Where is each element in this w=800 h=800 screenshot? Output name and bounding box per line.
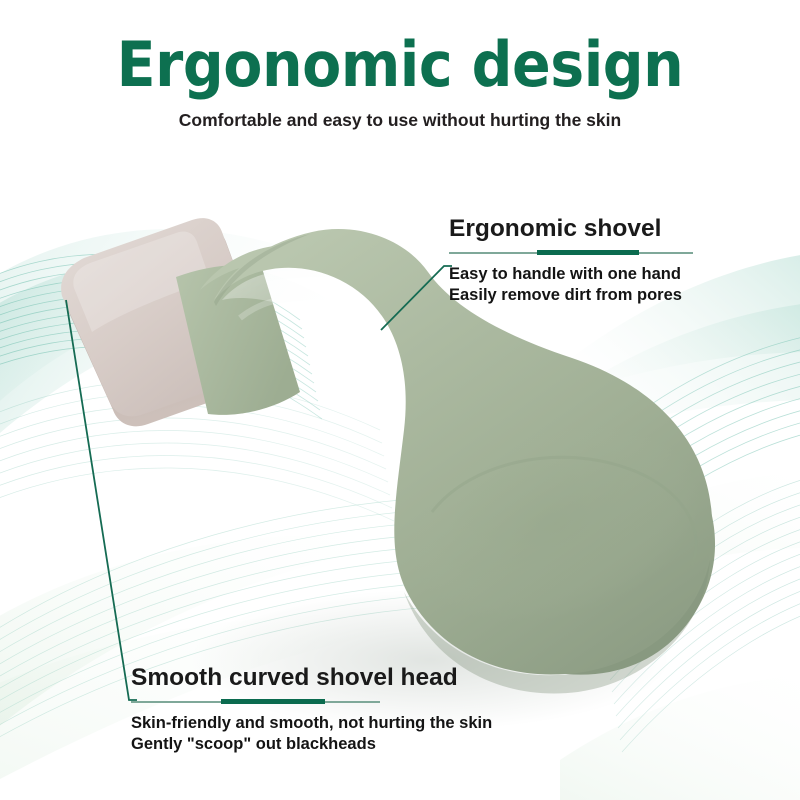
thumb-rest-dimple xyxy=(388,393,725,656)
callout-ergonomic-shovel: Ergonomic shovel Easy to handle with one… xyxy=(449,216,693,306)
divider-accent-segment xyxy=(537,250,639,255)
product-feature-graphic: Ergonomic design Comfortable and easy to… xyxy=(0,0,800,800)
page-title: Ergonomic design xyxy=(32,0,768,96)
wave-lines-left xyxy=(0,254,322,419)
divider-accent-segment xyxy=(221,699,326,704)
callout-divider xyxy=(131,699,380,705)
callout-heading: Ergonomic shovel xyxy=(449,216,693,243)
callout-description-line-2: Gently "scoop" out blackheads xyxy=(131,734,380,755)
callout-description-line-1: Skin-friendly and smooth, not hurting th… xyxy=(131,713,380,734)
page-subtitle: Comfortable and easy to use without hurt… xyxy=(0,96,800,131)
callout-smooth-curved-shovel-head: Smooth curved shovel head Skin-friendly … xyxy=(131,665,380,755)
shovel-head xyxy=(61,218,269,426)
leader-line-head xyxy=(66,300,137,700)
callout-description-line-1: Easy to handle with one hand xyxy=(449,264,693,285)
wave-lines-left-lower xyxy=(0,380,394,521)
header: Ergonomic design Comfortable and easy to… xyxy=(0,0,800,131)
callout-heading: Smooth curved shovel head xyxy=(131,665,380,692)
wave-lines-right-lower xyxy=(600,470,800,752)
wave-lines-right xyxy=(540,330,800,596)
callout-description-line-2: Easily remove dirt from pores xyxy=(449,285,693,306)
callout-divider xyxy=(449,250,693,256)
handle-neck xyxy=(176,265,300,415)
leader-line-shovel xyxy=(381,266,452,330)
